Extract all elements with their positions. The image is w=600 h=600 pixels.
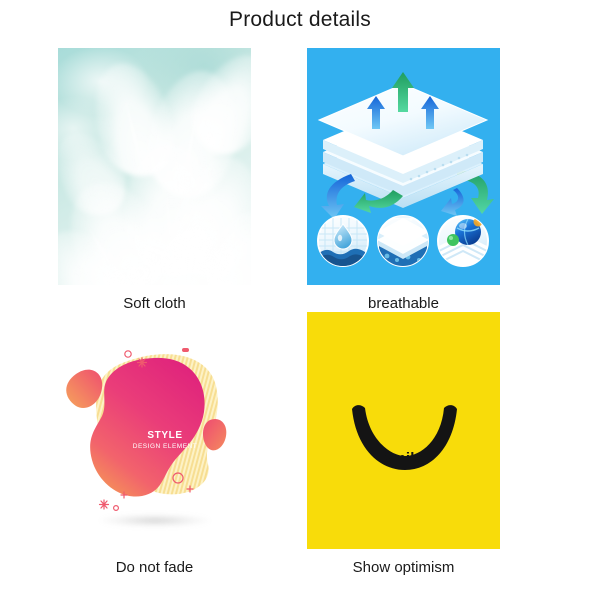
panel-do-not-fade: STYLE DESIGN ELEMENT Do not fade — [58, 312, 251, 576]
breathable-image — [307, 48, 500, 285]
panel-breathable: breathable — [307, 48, 500, 312]
badge-antibacterial-globe — [438, 216, 488, 268]
accent-blob-right — [203, 419, 226, 450]
decorative-pill — [182, 348, 189, 352]
panel-show-optimism: smile Show optimism — [307, 312, 500, 576]
product-detail-grid: Soft cloth — [58, 48, 500, 588]
product-details-page: Product details Soft cloth — [0, 0, 600, 600]
badge-water-droplet — [318, 216, 368, 270]
panel-caption: Do not fade — [58, 559, 251, 576]
do-not-fade-image: STYLE DESIGN ELEMENT — [58, 312, 251, 549]
panel-caption: Show optimism — [307, 559, 500, 576]
smile-illustration — [307, 312, 500, 549]
breathable-illustration — [307, 48, 500, 285]
badge-layered-diamond — [377, 206, 429, 268]
blob-label-secondary: DESIGN ELEMENT — [133, 443, 197, 450]
blob-drop-shadow — [100, 514, 210, 527]
blob-label-primary: STYLE — [147, 430, 182, 441]
smile-word: smile — [307, 450, 500, 467]
page-title: Product details — [0, 8, 600, 32]
panel-caption: breathable — [307, 295, 500, 312]
show-optimism-image: smile — [307, 312, 500, 549]
panel-soft-cloth: Soft cloth — [58, 48, 251, 312]
soft-cloth-image — [58, 48, 251, 285]
panel-caption: Soft cloth — [58, 295, 251, 312]
